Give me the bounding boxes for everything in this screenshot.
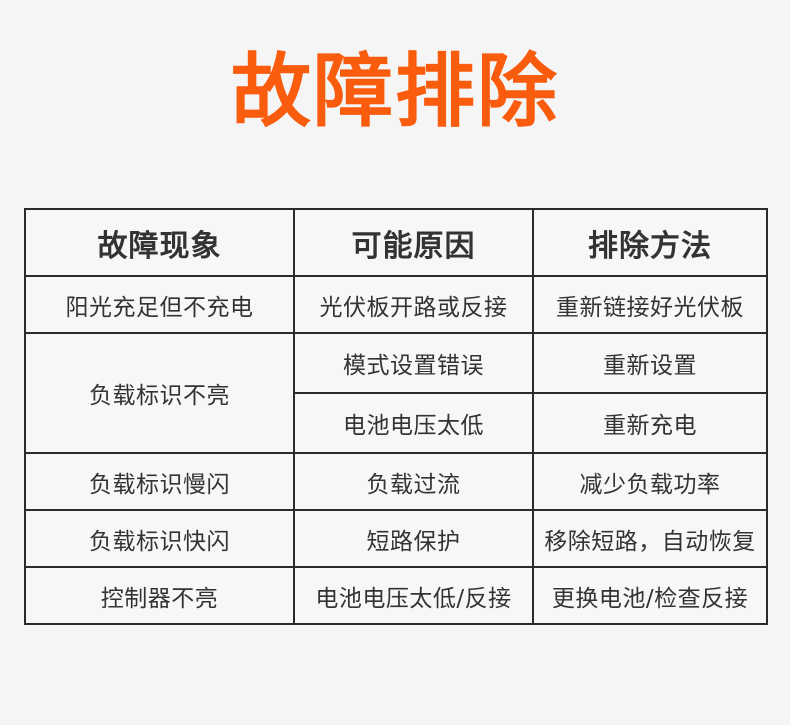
- table-row: 负载标识快闪 短路保护 移除短路，自动恢复: [25, 510, 767, 567]
- table-row: 控制器不亮 电池电压太低/反接 更换电池/检查反接: [25, 567, 767, 624]
- cell-symptom: 阳光充足但不充电: [25, 276, 294, 333]
- cell-remedy: 移除短路，自动恢复: [533, 510, 767, 567]
- cell-cause: 电池电压太低/反接: [294, 567, 533, 624]
- cell-remedy: 重新设置: [533, 333, 767, 393]
- column-header-remedy: 排除方法: [533, 209, 767, 276]
- table-row: 负载标识慢闪 负载过流 减少负载功率: [25, 453, 767, 510]
- cell-cause: 模式设置错误: [294, 333, 533, 393]
- cell-remedy: 更换电池/检查反接: [533, 567, 767, 624]
- cell-remedy: 重新充电: [533, 393, 767, 453]
- table-head: 故障现象 可能原因 排除方法: [25, 209, 767, 276]
- cell-cause: 负载过流: [294, 453, 533, 510]
- column-header-symptom: 故障现象: [25, 209, 294, 276]
- cell-symptom: 控制器不亮: [25, 567, 294, 624]
- troubleshooting-table: 故障现象 可能原因 排除方法 阳光充足但不充电 光伏板开路或反接 重新链接好光伏…: [24, 208, 768, 625]
- cell-symptom: 负载标识慢闪: [25, 453, 294, 510]
- table-body: 阳光充足但不充电 光伏板开路或反接 重新链接好光伏板 负载标识不亮 模式设置错误…: [25, 276, 767, 624]
- page-title-container: 故障排除: [0, 46, 790, 138]
- cell-cause: 电池电压太低: [294, 393, 533, 453]
- troubleshooting-page: 故障排除 故障现象 可能原因 排除方法 阳光充足但不充电 光伏板开路或反接 重新…: [0, 0, 790, 725]
- cell-remedy: 重新链接好光伏板: [533, 276, 767, 333]
- column-header-cause: 可能原因: [294, 209, 533, 276]
- troubleshooting-table-container: 故障现象 可能原因 排除方法 阳光充足但不充电 光伏板开路或反接 重新链接好光伏…: [24, 208, 766, 625]
- table-row: 阳光充足但不充电 光伏板开路或反接 重新链接好光伏板: [25, 276, 767, 333]
- cell-symptom: 负载标识不亮: [25, 333, 294, 453]
- cell-cause: 光伏板开路或反接: [294, 276, 533, 333]
- table-header-row: 故障现象 可能原因 排除方法: [25, 209, 767, 276]
- cell-symptom: 负载标识快闪: [25, 510, 294, 567]
- page-title: 故障排除: [231, 46, 559, 138]
- cell-cause: 短路保护: [294, 510, 533, 567]
- cell-remedy: 减少负载功率: [533, 453, 767, 510]
- table-row: 负载标识不亮 模式设置错误 重新设置: [25, 333, 767, 393]
